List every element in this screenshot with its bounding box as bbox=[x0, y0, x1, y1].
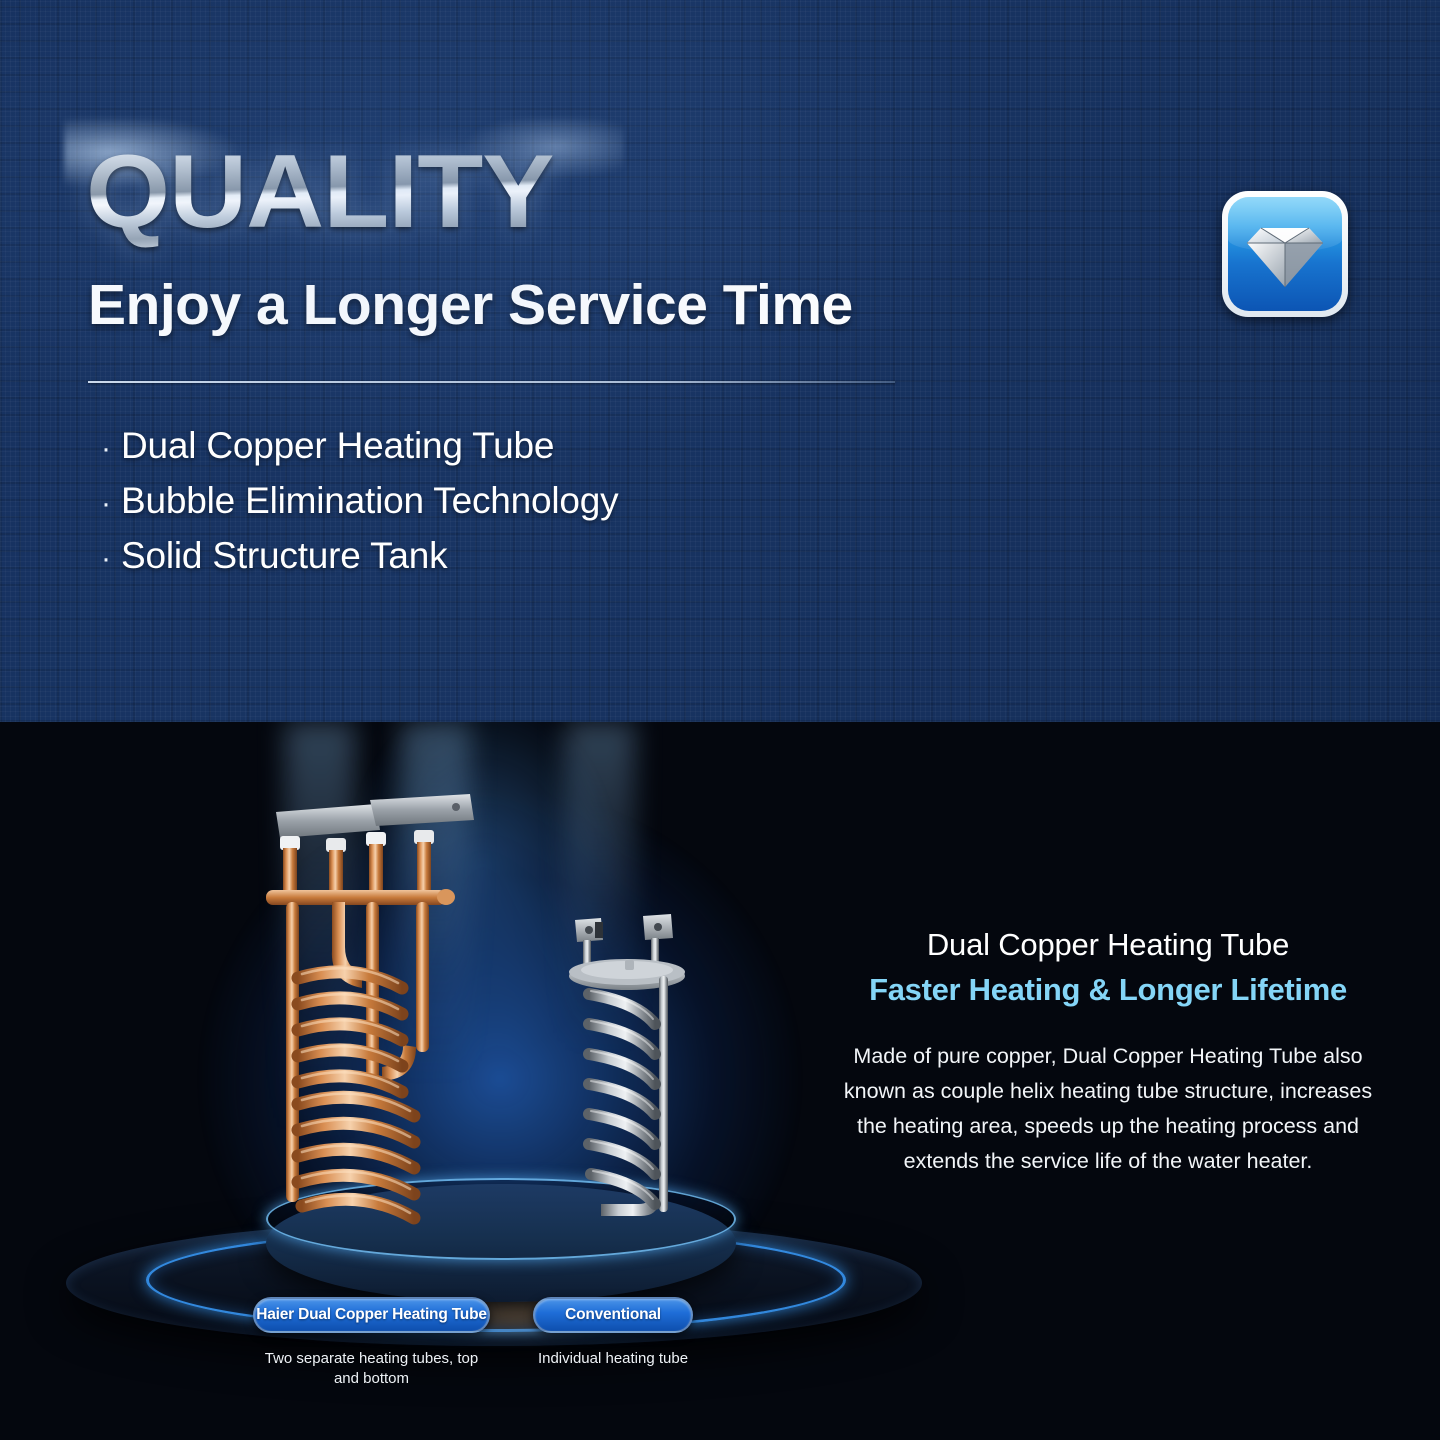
copper-heating-tube-illustration bbox=[258, 792, 508, 1252]
divider bbox=[88, 381, 895, 383]
page-subtitle: Enjoy a Longer Service Time bbox=[88, 272, 853, 338]
pill-haier-dual-copper[interactable]: Haier Dual Copper Heating Tube bbox=[253, 1297, 490, 1333]
feature-subheadline: Faster Heating & Longer Lifetime bbox=[838, 972, 1378, 1009]
page-title: QUALITY bbox=[86, 133, 553, 252]
bullet-icon: · bbox=[95, 489, 121, 519]
list-item-label: Dual Copper Heating Tube bbox=[121, 425, 554, 467]
list-item-label: Solid Structure Tank bbox=[121, 535, 447, 577]
list-item-label: Bubble Elimination Technology bbox=[121, 480, 618, 522]
quality-header-panel: QUALITY Enjoy a Longer Service Time · Du… bbox=[0, 0, 1440, 722]
feature-headline: Dual Copper Heating Tube bbox=[838, 927, 1378, 964]
feature-list: · Dual Copper Heating Tube · Bubble Elim… bbox=[95, 425, 995, 590]
list-item: · Dual Copper Heating Tube bbox=[95, 425, 995, 467]
feature-description: Dual Copper Heating Tube Faster Heating … bbox=[838, 927, 1378, 1178]
caption-haier-dual-copper: Two separate heating tubes, top and bott… bbox=[253, 1349, 490, 1388]
comparison-panel: KO Haier Dual Copper Heating Tube Conven… bbox=[0, 722, 1440, 1440]
quality-badge bbox=[1222, 191, 1348, 317]
pill-conventional[interactable]: Conventional bbox=[533, 1297, 693, 1333]
badge-surface bbox=[1228, 197, 1342, 311]
feature-body-text: Made of pure copper, Dual Copper Heating… bbox=[838, 1039, 1378, 1178]
product-feature-page: QUALITY Enjoy a Longer Service Time · Du… bbox=[0, 0, 1440, 1440]
bullet-icon: · bbox=[95, 544, 121, 574]
diamond-icon bbox=[1247, 221, 1323, 287]
list-item: · Bubble Elimination Technology bbox=[95, 480, 995, 522]
list-item: · Solid Structure Tank bbox=[95, 535, 995, 577]
caption-conventional: Individual heating tube bbox=[513, 1349, 713, 1369]
bullet-icon: · bbox=[95, 434, 121, 464]
conventional-heating-tube-illustration bbox=[555, 912, 705, 1232]
